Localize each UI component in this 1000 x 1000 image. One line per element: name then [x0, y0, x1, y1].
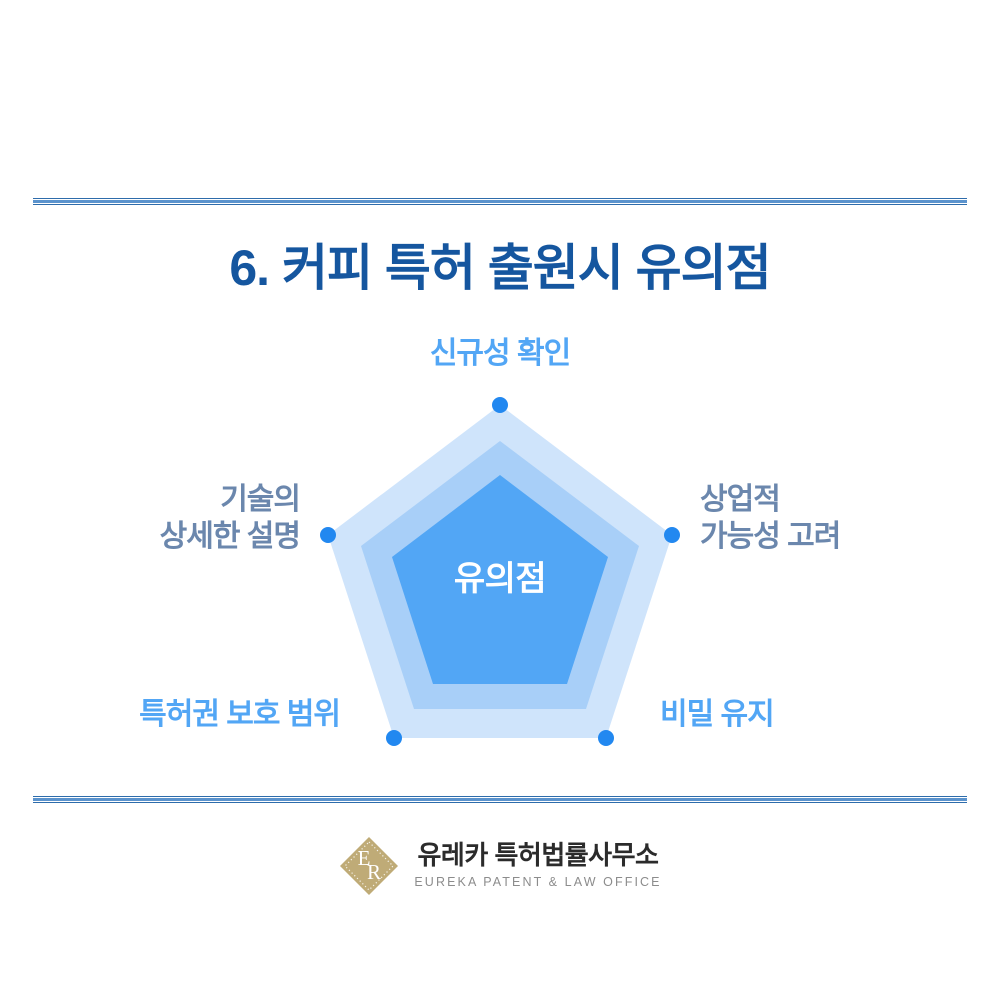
vertex-dot-bottom-left[interactable]	[386, 730, 402, 746]
divider-top-line-thin-upper	[33, 198, 967, 199]
page-title: 6. 커피 특허 출원시 유의점	[0, 228, 1000, 300]
node-label-commercial[interactable]: 상업적 가능성 고려	[700, 482, 970, 555]
divider-bottom-line-thick	[33, 798, 967, 801]
node-label-novelty[interactable]: 신규성 확인	[0, 336, 1000, 373]
logo-text-block: 유레카 특허법률사무소 EUREKA PATENT & LAW OFFICE	[414, 841, 661, 890]
slide-canvas: 6. 커피 특허 출원시 유의점 유의점 신규성 확인 상업적 가능성 고려 비…	[0, 0, 1000, 1000]
divider-bottom	[33, 796, 967, 803]
footer-logo: E R 유레카 특허법률사무소 EUREKA PATENT & LAW OFFI…	[0, 826, 1000, 906]
logo-name-kr: 유레카 특허법률사무소	[418, 841, 659, 871]
node-label-patent-scope[interactable]: 특허권 보호 범위	[20, 697, 340, 734]
logo-name-en: EUREKA PATENT & LAW OFFICE	[414, 874, 661, 890]
vertex-dot-left[interactable]	[320, 527, 336, 543]
eureka-diamond-icon: E R	[338, 835, 400, 897]
pentagon-diagram: 유의점 신규성 확인 상업적 가능성 고려 비밀 유지 특허권 보호 범위 기술…	[0, 320, 1000, 780]
divider-top	[33, 198, 967, 205]
divider-bottom-line-thin-upper	[33, 796, 967, 797]
divider-top-line-thin-lower	[33, 204, 967, 205]
divider-bottom-line-thin-lower	[33, 802, 967, 803]
node-label-confidentiality[interactable]: 비밀 유지	[660, 697, 960, 734]
svg-text:R: R	[367, 860, 381, 884]
vertex-dot-right[interactable]	[664, 527, 680, 543]
vertex-dot-bottom-right[interactable]	[598, 730, 614, 746]
node-label-technical-detail[interactable]: 기술의 상세한 설명	[30, 482, 300, 555]
divider-top-line-thick	[33, 200, 967, 203]
vertex-dot-top[interactable]	[492, 397, 508, 413]
